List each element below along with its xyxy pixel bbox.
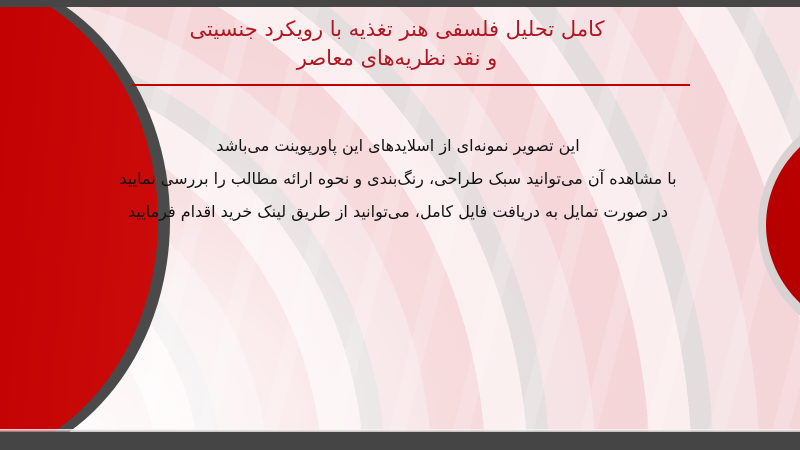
slide-title: کامل تحلیل فلسفی هنر تغذیه با رویکرد جنس… xyxy=(102,15,692,73)
dark-frame-bottom xyxy=(0,432,800,450)
presentation-slide: کامل تحلیل فلسفی هنر تغذیه با رویکرد جنس… xyxy=(0,0,800,450)
slide-title-line-2: و نقد نظریه‌های معاصر xyxy=(102,44,692,73)
slide-body-line-3: در صورت تمایل به دریافت فایل کامل، می‌تو… xyxy=(42,195,754,228)
slide-body-line-2: با مشاهده آن می‌توانید سبک طراحی، رنگ‌بن… xyxy=(42,162,754,195)
slide-body-text: این تصویر نمونه‌ای از اسلایدهای این پاور… xyxy=(42,129,754,228)
slide-body-line-1: این تصویر نمونه‌ای از اسلایدهای این پاور… xyxy=(42,129,754,162)
title-underline-rule xyxy=(132,84,690,86)
slide-title-line-1: کامل تحلیل فلسفی هنر تغذیه با رویکرد جنس… xyxy=(102,15,692,44)
slide-content-panel: کامل تحلیل فلسفی هنر تغذیه با رویکرد جنس… xyxy=(0,7,800,432)
